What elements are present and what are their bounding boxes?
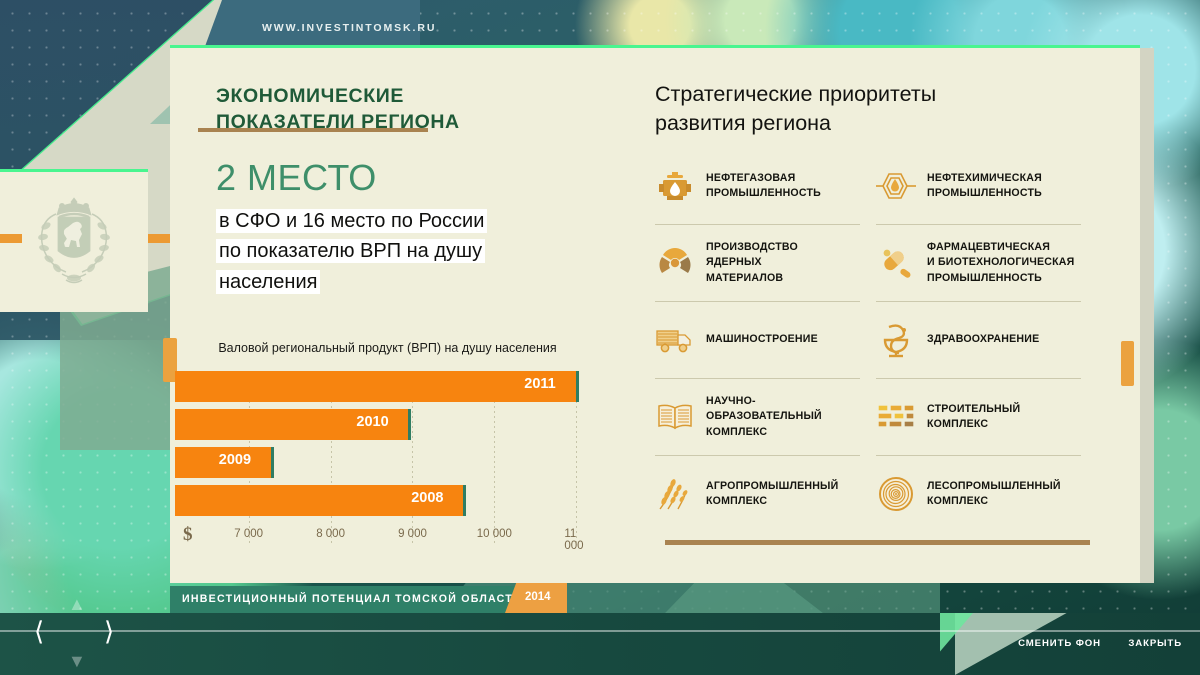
chart-bar-row: 2008: [175, 485, 600, 516]
rank-description-line-2: по показателю ВРП на душу: [216, 239, 485, 263]
heading-line-1: ЭКОНОМИЧЕСКИЕ: [216, 84, 606, 110]
chart-title: Валовой региональный продукт (ВРП) на ду…: [175, 341, 600, 355]
bowl-hygieia-icon: [876, 320, 916, 360]
bottom-rule: [665, 540, 1090, 545]
chart-bar-label: 2009: [219, 452, 251, 468]
strategic-heading-line-1: Стратегические приоритеты: [655, 80, 1095, 109]
strategic-priorities-block: Стратегические приоритеты развития регио…: [655, 80, 1095, 137]
rank-description: в СФО и 16 место по России по показателю…: [216, 206, 606, 297]
priority-item[interactable]: НЕФТЕГАЗОВАЯ ПРОМЫШЛЕННОСТЬ: [655, 148, 876, 224]
priority-item-label: СТРОИТЕЛЬНЫЙ КОМПЛЕКС: [927, 402, 1020, 432]
tree-rings-icon: [876, 474, 916, 514]
priorities-row: НАУЧНО- ОБРАЗОВАТЕЛЬНЫЙ КОМПЛЕКССТРОИТЕЛ…: [655, 379, 1097, 455]
brick-wall-icon: [876, 397, 916, 437]
chevron-right-icon[interactable]: ⟩: [104, 618, 114, 644]
chart-bar-row: 2009: [175, 447, 600, 478]
emblem-tab-right: [148, 234, 170, 243]
priority-item[interactable]: ЛЕСОПРОМЫШЛЕННЫЙ КОМПЛЕКС: [876, 456, 1097, 532]
chart-bar-label: 2008: [411, 490, 443, 506]
priority-item[interactable]: СТРОИТЕЛЬНЫЙ КОМПЛЕКС: [876, 379, 1097, 455]
petrochem-hex-icon: [876, 166, 916, 206]
priority-item[interactable]: МАШИНОСТРОЕНИЕ: [655, 302, 876, 378]
emblem-card-edge: [0, 169, 148, 172]
slide-viewer: WWW.INVESTINTOMSK.RU: [0, 0, 1200, 675]
priority-item-label: АГРОПРОМЫШЛЕННЫЙ КОМПЛЕКС: [706, 479, 838, 509]
change-background-button[interactable]: СМЕНИТЬ ФОН: [1018, 638, 1101, 649]
radiation-icon: [655, 243, 695, 283]
priorities-row: МАШИНОСТРОЕНИЕЗДРАВООХРАНЕНИЕ: [655, 302, 1097, 378]
chart-bar-row: 2010: [175, 409, 600, 440]
priority-item[interactable]: НЕФТЕХИМИЧЕСКАЯ ПРОМЫШЛЕННОСТЬ: [876, 148, 1097, 224]
priority-item[interactable]: ПРОИЗВОДСТВО ЯДЕРНЫХ МАТЕРИАЛОВ: [655, 225, 876, 301]
priorities-grid: НЕФТЕГАЗОВАЯ ПРОМЫШЛЕННОСТЬНЕФТЕХИМИЧЕСК…: [655, 148, 1097, 532]
emblem-tab-left: [0, 234, 22, 243]
chevron-down-icon[interactable]: ▼: [68, 652, 86, 670]
priority-item[interactable]: ФАРМАЦЕВТИЧЕСКАЯ И БИОТЕХНОЛОГИЧЕСКАЯ ПР…: [876, 225, 1097, 301]
nav-divider-line: [0, 630, 1200, 632]
chevron-up-icon[interactable]: ▲: [68, 595, 86, 613]
rank-description-line-3: населения: [216, 270, 320, 294]
priority-item-label: НЕФТЕХИМИЧЕСКАЯ ПРОМЫШЛЕННОСТЬ: [927, 171, 1042, 201]
site-url: WWW.INVESTINTOMSK.RU: [262, 22, 436, 34]
chart-x-tick: 7 000: [234, 528, 263, 540]
year-label: 2014: [525, 591, 551, 603]
priority-item-label: НЕФТЕГАЗОВАЯ ПРОМЫШЛЕННОСТЬ: [706, 171, 821, 201]
priority-item-label: ЛЕСОПРОМЫШЛЕННЫЙ КОМПЛЕКС: [927, 479, 1061, 509]
chart-currency-symbol: $: [183, 524, 193, 546]
chart-bar-label: 2010: [356, 414, 388, 430]
chart-bar-label: 2011: [524, 376, 555, 392]
priority-item[interactable]: ЗДРАВООХРАНЕНИЕ: [876, 302, 1097, 378]
priority-item-label: ПРОИЗВОДСТВО ЯДЕРНЫХ МАТЕРИАЛОВ: [706, 240, 798, 285]
chart-plot-area: 2011201020092008: [175, 371, 600, 523]
priority-item-label: ЗДРАВООХРАНЕНИЕ: [927, 332, 1039, 347]
heading-rule: [198, 128, 428, 132]
priority-item-label: МАШИНОСТРОЕНИЕ: [706, 332, 818, 347]
chevron-left-icon[interactable]: ⟨: [34, 618, 44, 644]
priority-item[interactable]: АГРОПРОМЫШЛЕННЫЙ КОМПЛЕКС: [655, 456, 876, 532]
pill-capsule-icon: [876, 243, 916, 283]
strategic-heading-line-2: развития региона: [655, 109, 1095, 138]
strategic-priorities-heading: Стратегические приоритеты развития регио…: [655, 80, 1095, 137]
priority-item-label: ФАРМАЦЕВТИЧЕСКАЯ И БИОТЕХНОЛОГИЧЕСКАЯ ПР…: [927, 240, 1074, 285]
priorities-row: НЕФТЕГАЗОВАЯ ПРОМЫШЛЕННОСТЬНЕФТЕХИМИЧЕСК…: [655, 148, 1097, 224]
chart-bar-row: 2011: [175, 371, 600, 402]
chart-x-tick: 9 000: [398, 528, 427, 540]
chart-x-axis: $ 7 0008 0009 00010 00011 000: [175, 525, 600, 551]
rank-description-line-1: в СФО и 16 место по России: [216, 209, 487, 233]
chart-bar: [175, 371, 576, 402]
rank-headline: 2 МЕСТО: [216, 160, 606, 196]
panel-tab-right[interactable]: [1121, 341, 1134, 386]
chart-x-tick: 11 000: [564, 528, 588, 552]
chart-x-tick: 8 000: [316, 528, 345, 540]
close-button[interactable]: ЗАКРЫТЬ: [1128, 638, 1182, 649]
presentation-title-bar: ИНВЕСТИЦИОННЫЙ ПОТЕНЦИАЛ ТОМСКОЙ ОБЛАСТИ: [170, 586, 558, 613]
emblem-card: [0, 172, 148, 312]
wheat-ears-icon: [655, 474, 695, 514]
grp-chart: Валовой региональный продукт (ВРП) на ду…: [175, 335, 600, 557]
chart-x-tick: 10 000: [477, 528, 512, 540]
priority-item[interactable]: НАУЧНО- ОБРАЗОВАТЕЛЬНЫЙ КОМПЛЕКС: [655, 379, 876, 455]
open-book-icon: [655, 397, 695, 437]
economic-indicators-block: ЭКОНОМИЧЕСКИЕ ПОКАЗАТЕЛИ РЕГИОНА 2 МЕСТО…: [216, 84, 606, 297]
panel-right-edge: [1140, 48, 1154, 583]
priorities-row: АГРОПРОМЫШЛЕННЫЙ КОМПЛЕКСЛЕСОПРОМЫШЛЕННЫ…: [655, 456, 1097, 532]
tomsk-oblast-coat-of-arms-icon: [28, 190, 120, 294]
priority-item-label: НАУЧНО- ОБРАЗОВАТЕЛЬНЫЙ КОМПЛЕКС: [706, 394, 822, 439]
presentation-title: ИНВЕСТИЦИОННЫЙ ПОТЕНЦИАЛ ТОМСКОЙ ОБЛАСТИ: [182, 593, 522, 605]
truck-icon: [655, 320, 695, 360]
priorities-row: ПРОИЗВОДСТВО ЯДЕРНЫХ МАТЕРИАЛОВФАРМАЦЕВТ…: [655, 225, 1097, 301]
gas-valve-icon: [655, 166, 695, 206]
